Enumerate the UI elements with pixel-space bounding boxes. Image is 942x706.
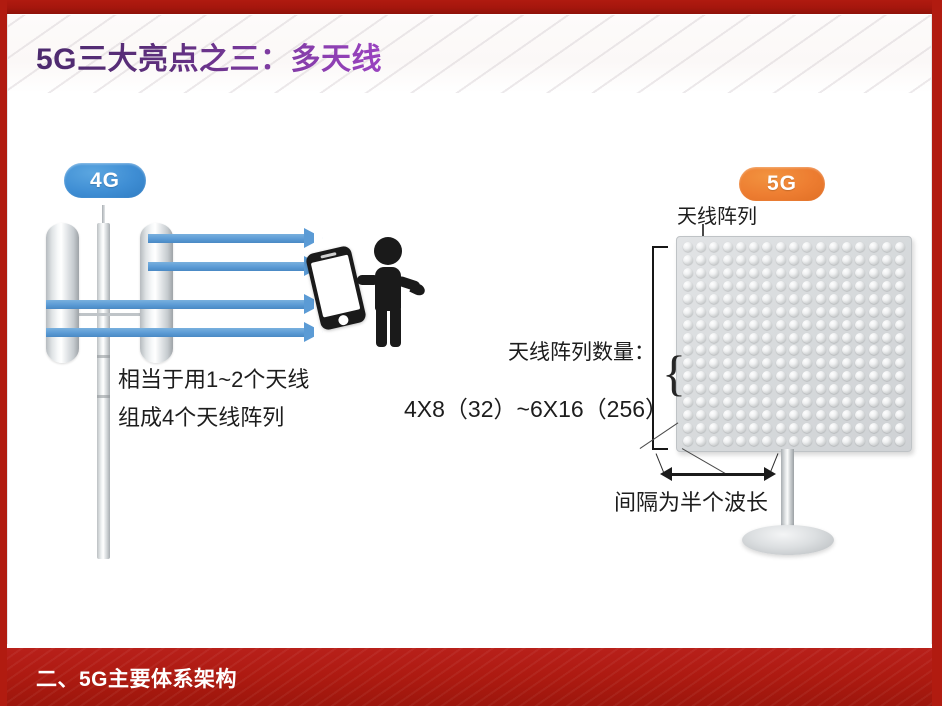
antenna-element-dot [895, 397, 905, 407]
antenna-element-dot [829, 255, 839, 265]
antenna-element [867, 421, 880, 434]
antenna-element [694, 331, 707, 344]
antenna-element [721, 267, 734, 280]
antenna-element [841, 396, 854, 409]
antenna-element-dot [696, 358, 706, 368]
antenna-element [880, 357, 893, 370]
antenna-element-dot [842, 436, 852, 446]
antenna-element [894, 434, 907, 447]
antenna-element-dot [762, 242, 772, 252]
label-array-range: 4X8（32）~6X16（256） [404, 390, 668, 424]
antenna-element [841, 357, 854, 370]
antenna-element-dot [816, 436, 826, 446]
antenna-element-dot [776, 242, 786, 252]
antenna-element [734, 408, 747, 421]
mast-joint [97, 395, 110, 398]
antenna-element [880, 280, 893, 293]
antenna-element [734, 344, 747, 357]
antenna-element-dot [829, 345, 839, 355]
antenna-element [721, 305, 734, 318]
antenna-element [841, 254, 854, 267]
antenna-element-dot [895, 345, 905, 355]
antenna-element [761, 280, 774, 293]
antenna-element [854, 357, 867, 370]
antenna-element [734, 383, 747, 396]
antenna-element [747, 408, 760, 421]
antenna-element-dot [696, 281, 706, 291]
antenna-element-dot [762, 294, 772, 304]
antenna-element [681, 421, 694, 434]
antenna-element-dot [789, 294, 799, 304]
antenna-element-dot [696, 307, 706, 317]
antenna-element [734, 357, 747, 370]
antenna-element-dot [749, 397, 759, 407]
antenna-element-dot [855, 294, 865, 304]
antenna-element-dot [762, 410, 772, 420]
antenna-element [894, 396, 907, 409]
badge-4g: 4G [64, 163, 146, 198]
antenna-element-dot [789, 333, 799, 343]
antenna-element [694, 357, 707, 370]
antenna-element-dot [882, 436, 892, 446]
antenna-element [787, 305, 800, 318]
antenna-element-dot [749, 242, 759, 252]
antenna-element [867, 357, 880, 370]
antenna-element-dot [802, 307, 812, 317]
label-antenna-array: 天线阵列 [677, 200, 757, 229]
antenna-element-dot [802, 333, 812, 343]
antenna-element-dot [842, 281, 852, 291]
antenna-element-dot [776, 423, 786, 433]
antenna-element [721, 383, 734, 396]
antenna-element-dot [709, 345, 719, 355]
antenna-element-dot [882, 410, 892, 420]
antenna-element [694, 408, 707, 421]
antenna-element [721, 331, 734, 344]
antenna-element-dot [789, 358, 799, 368]
antenna-cylinder-left [46, 223, 79, 363]
pictogram-arm-left [357, 275, 379, 285]
antenna-element-dot [882, 397, 892, 407]
antenna-element-dot [895, 255, 905, 265]
antenna-element [827, 357, 840, 370]
antenna-element [827, 241, 840, 254]
antenna-element [761, 344, 774, 357]
antenna-element-dot [842, 358, 852, 368]
antenna-element-dot [683, 281, 693, 291]
antenna-element [841, 434, 854, 447]
antenna-element-dot [736, 255, 746, 265]
antenna-element-dot [855, 410, 865, 420]
antenna-element [761, 408, 774, 421]
antenna-element [747, 344, 760, 357]
antenna-element-dot [736, 397, 746, 407]
antenna-element-dot [723, 281, 733, 291]
antenna-element-dot [895, 423, 905, 433]
antenna-element-dot [829, 436, 839, 446]
antenna-element [774, 318, 787, 331]
antenna-element [880, 344, 893, 357]
antenna-element [841, 370, 854, 383]
antenna-element-dot [789, 384, 799, 394]
antenna-element-dot [762, 255, 772, 265]
antenna-element [681, 254, 694, 267]
antenna-element-dot [709, 333, 719, 343]
antenna-element [694, 280, 707, 293]
antenna-element [761, 293, 774, 306]
antenna-element-dot [776, 255, 786, 265]
antenna-element [814, 357, 827, 370]
antenna-element [747, 396, 760, 409]
antenna-element-dot [869, 333, 879, 343]
antenna-element-dot [696, 320, 706, 330]
antenna-element-dot [696, 436, 706, 446]
antenna-element-dot [882, 255, 892, 265]
antenna-element [827, 370, 840, 383]
antenna-element-dot [749, 436, 759, 446]
antenna-element [867, 434, 880, 447]
antenna-element [787, 396, 800, 409]
antenna-element-dot [842, 320, 852, 330]
antenna-element [827, 280, 840, 293]
antenna-element [867, 408, 880, 421]
antenna-element-dot [709, 423, 719, 433]
antenna-element [894, 331, 907, 344]
pictogram-leg-right [390, 307, 401, 347]
antenna-element-dot [816, 255, 826, 265]
antenna-element [774, 267, 787, 280]
antenna-element-dot [696, 345, 706, 355]
antenna-element-dot [736, 268, 746, 278]
antenna-element [681, 318, 694, 331]
antenna-element-dot [709, 242, 719, 252]
measure-arrowhead-left [660, 467, 672, 481]
antenna-element [747, 370, 760, 383]
tower-mast [97, 223, 110, 559]
frame-right-bar [932, 0, 942, 706]
antenna-element [814, 267, 827, 280]
antenna-element [894, 305, 907, 318]
antenna-element [774, 305, 787, 318]
antenna-element-dot [829, 281, 839, 291]
antenna-element [708, 305, 721, 318]
antenna-element [734, 267, 747, 280]
antenna-element-dot [816, 242, 826, 252]
antenna-element [880, 293, 893, 306]
antenna-element [761, 396, 774, 409]
antenna-element [721, 396, 734, 409]
antenna-element-dot [882, 281, 892, 291]
antenna-element [708, 370, 721, 383]
antenna-element [787, 434, 800, 447]
antenna-element [681, 293, 694, 306]
antenna-element-dot [816, 371, 826, 381]
antenna-element-dot [842, 345, 852, 355]
antenna-element-dot [723, 242, 733, 252]
antenna-element [734, 254, 747, 267]
antenna-element [774, 408, 787, 421]
antenna-element [894, 383, 907, 396]
antenna-element-dot [842, 242, 852, 252]
antenna-element-dot [802, 281, 812, 291]
antenna-element [894, 421, 907, 434]
antenna-element [774, 344, 787, 357]
antenna-element [747, 267, 760, 280]
antenna-element [708, 267, 721, 280]
antenna-element [867, 280, 880, 293]
antenna-element [827, 305, 840, 318]
antenna-element-dot [723, 320, 733, 330]
footer-title: 二、5G主要体系架构 [36, 663, 237, 693]
antenna-element [708, 408, 721, 421]
antenna-element [827, 434, 840, 447]
antenna-element-dot [829, 268, 839, 278]
antenna-element-dot [762, 397, 772, 407]
antenna-element-dot [723, 268, 733, 278]
signal-beam-arrow [148, 234, 306, 243]
antenna-element-dot [816, 320, 826, 330]
antenna-element [827, 293, 840, 306]
antenna-element-dot [869, 281, 879, 291]
antenna-element-dot [842, 384, 852, 394]
antenna-element-dot [776, 320, 786, 330]
antenna-element-dot [736, 307, 746, 317]
antenna-element-dot [869, 410, 879, 420]
antenna-element [747, 254, 760, 267]
antenna-element [787, 280, 800, 293]
antenna-element [854, 434, 867, 447]
antenna-element [854, 267, 867, 280]
antenna-element-dot [869, 345, 879, 355]
antenna-element-dot [855, 384, 865, 394]
antenna-element-dot [842, 268, 852, 278]
antenna-element-dot [882, 333, 892, 343]
antenna-element [681, 408, 694, 421]
antenna-element [854, 254, 867, 267]
antenna-element [761, 421, 774, 434]
antenna-element-dot [855, 255, 865, 265]
antenna-element [747, 318, 760, 331]
antenna-element-dot [842, 255, 852, 265]
antenna-element-dot [762, 423, 772, 433]
antenna-element-dot [842, 371, 852, 381]
antenna-element-dot [709, 410, 719, 420]
beam-shaft [148, 262, 306, 271]
antenna-element-dot [696, 255, 706, 265]
antenna-element-dot [855, 345, 865, 355]
antenna-element-dot [736, 371, 746, 381]
antenna-element [801, 318, 814, 331]
antenna-element [694, 267, 707, 280]
antenna-element [801, 254, 814, 267]
antenna-element-grid [681, 241, 907, 447]
antenna-element [708, 293, 721, 306]
antenna-element [694, 254, 707, 267]
antenna-element-dot [696, 371, 706, 381]
antenna-cylinder-right [140, 223, 173, 363]
antenna-element [880, 370, 893, 383]
antenna-element-dot [696, 397, 706, 407]
antenna-element [681, 241, 694, 254]
antenna-element [761, 331, 774, 344]
antenna-element [894, 280, 907, 293]
antenna-element-dot [816, 397, 826, 407]
antenna-element [801, 370, 814, 383]
antenna-element [801, 331, 814, 344]
antenna-element [747, 434, 760, 447]
antenna-element-dot [789, 423, 799, 433]
badge-5g-label: 5G [767, 172, 797, 196]
antenna-element [761, 434, 774, 447]
antenna-element-dot [895, 371, 905, 381]
antenna-element [774, 383, 787, 396]
antenna-element-dot [855, 333, 865, 343]
antenna-element [734, 396, 747, 409]
antenna-element [801, 280, 814, 293]
antenna-element [761, 318, 774, 331]
antenna-element [787, 357, 800, 370]
antenna-element-dot [829, 307, 839, 317]
antenna-element-dot [869, 268, 879, 278]
antenna-element [708, 396, 721, 409]
antenna-element [681, 305, 694, 318]
antenna-element-dot [683, 294, 693, 304]
antenna-element [694, 396, 707, 409]
antenna-element [880, 305, 893, 318]
antenna-element [801, 344, 814, 357]
antenna-element [841, 318, 854, 331]
antenna-element [721, 434, 734, 447]
antenna-element-dot [842, 333, 852, 343]
antenna-element [827, 396, 840, 409]
antenna-element-dot [816, 268, 826, 278]
badge-4g-label: 4G [90, 169, 120, 193]
antenna-element [867, 396, 880, 409]
antenna-element [867, 331, 880, 344]
antenna-element [867, 241, 880, 254]
antenna-element [880, 434, 893, 447]
antenna-element-dot [723, 307, 733, 317]
antenna-element [708, 280, 721, 293]
antenna-element [854, 293, 867, 306]
antenna-element-dot [723, 255, 733, 265]
caption-4g-line1: 相当于用1~2个天线 [118, 362, 309, 394]
antenna-element [841, 408, 854, 421]
antenna-element-dot [736, 384, 746, 394]
antenna-element-dot [869, 423, 879, 433]
antenna-element-dot [776, 345, 786, 355]
antenna-element [721, 254, 734, 267]
mast-joint [97, 355, 110, 358]
antenna-element [708, 383, 721, 396]
antenna-element [827, 318, 840, 331]
antenna-element-dot [789, 410, 799, 420]
antenna-element-dot [895, 333, 905, 343]
antenna-element-dot [749, 410, 759, 420]
antenna-element [854, 318, 867, 331]
antenna-element [867, 254, 880, 267]
antenna-element [854, 280, 867, 293]
antenna-element-dot [736, 423, 746, 433]
antenna-element-dot [723, 410, 733, 420]
antenna-element [814, 331, 827, 344]
antenna-element-dot [762, 345, 772, 355]
antenna-element-dot [816, 307, 826, 317]
antenna-element [841, 293, 854, 306]
antenna-element-dot [842, 397, 852, 407]
antenna-element [854, 241, 867, 254]
antenna-element [774, 434, 787, 447]
antenna-element-dot [736, 281, 746, 291]
antenna-element [827, 344, 840, 357]
phone-screen [311, 254, 361, 317]
antenna-element [681, 434, 694, 447]
antenna-element-dot [776, 281, 786, 291]
antenna-element [774, 331, 787, 344]
antenna-element [880, 241, 893, 254]
antenna-element-dot [762, 281, 772, 291]
antenna-element-dot [749, 294, 759, 304]
antenna-element-dot [709, 358, 719, 368]
signal-beam-arrow [46, 328, 306, 337]
antenna-element [854, 370, 867, 383]
antenna-element-dot [709, 255, 719, 265]
antenna-element-dot [749, 255, 759, 265]
antenna-element [787, 421, 800, 434]
antenna-element-dot [696, 384, 706, 394]
antenna-element [801, 241, 814, 254]
antenna-element-dot [802, 397, 812, 407]
antenna-element-dot [696, 410, 706, 420]
antenna-element-dot [816, 423, 826, 433]
antenna-element-dot [882, 320, 892, 330]
antenna-element-dot [723, 384, 733, 394]
antenna-element-dot [869, 436, 879, 446]
antenna-element [801, 396, 814, 409]
antenna-element [774, 254, 787, 267]
antenna-element-dot [802, 384, 812, 394]
antenna-element [867, 383, 880, 396]
frame-left-bar [0, 0, 7, 706]
antenna-element-dot [789, 255, 799, 265]
antenna-element [841, 331, 854, 344]
antenna-element-dot [776, 410, 786, 420]
antenna-element-dot [882, 345, 892, 355]
antenna-element [694, 318, 707, 331]
antenna-element-dot [895, 268, 905, 278]
measure-arrowhead-right [764, 467, 776, 481]
antenna-element-dot [762, 320, 772, 330]
antenna-element [734, 241, 747, 254]
antenna-element-dot [736, 320, 746, 330]
antenna-element-dot [776, 294, 786, 304]
antenna-element-dot [776, 358, 786, 368]
antenna-element [747, 293, 760, 306]
antenna-element-dot [895, 242, 905, 252]
antenna-element [787, 241, 800, 254]
antenna-element-dot [696, 333, 706, 343]
antenna-element-dot [882, 268, 892, 278]
measure-line [670, 473, 766, 476]
antenna-element-dot [776, 333, 786, 343]
antenna-element [708, 357, 721, 370]
antenna-element [721, 241, 734, 254]
antenna-element [694, 344, 707, 357]
antenna-element-dot [709, 320, 719, 330]
antenna-element [708, 344, 721, 357]
antenna-element-dot [882, 242, 892, 252]
antenna-element-dot [829, 242, 839, 252]
